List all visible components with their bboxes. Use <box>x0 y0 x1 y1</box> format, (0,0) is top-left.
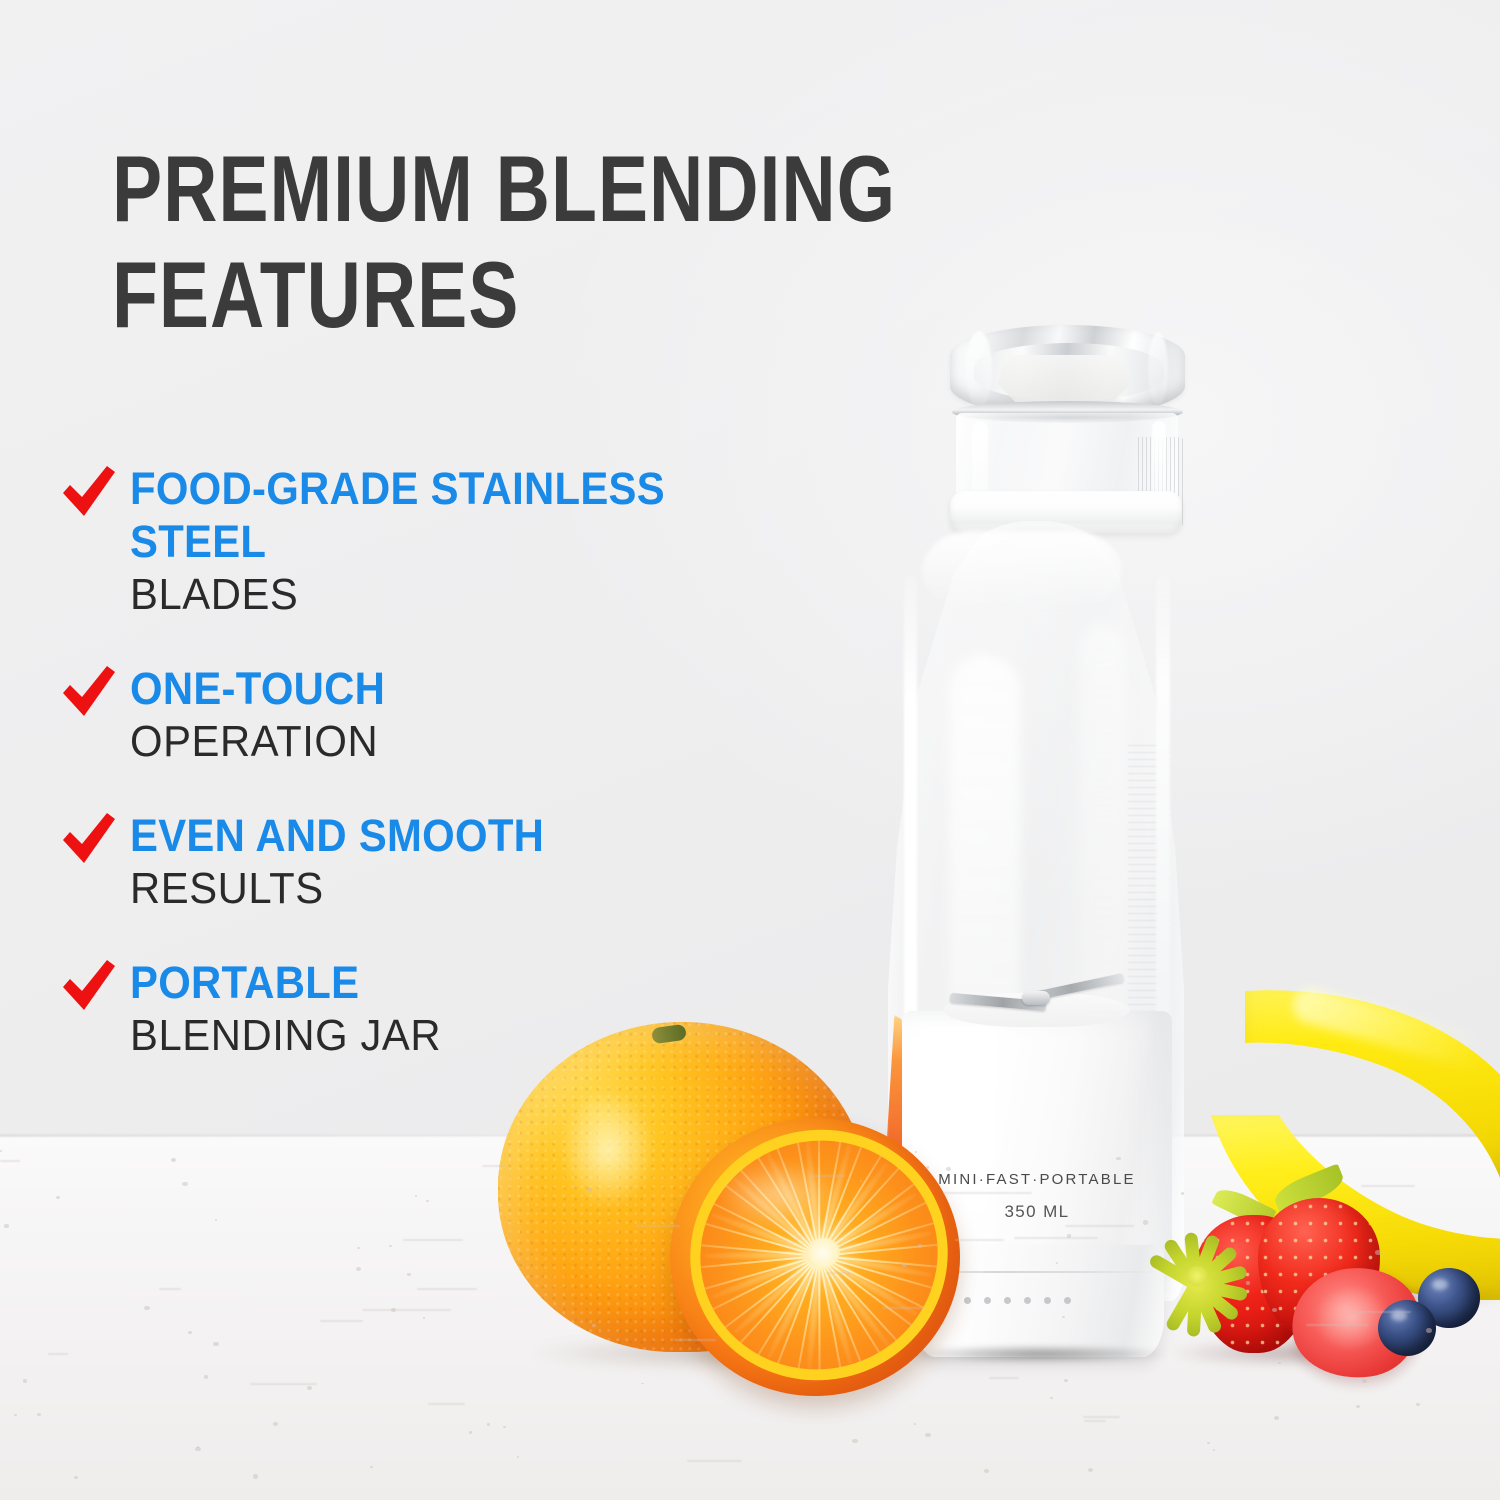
lid-highlight-right <box>1148 333 1168 405</box>
counter-speck <box>1272 1308 1277 1312</box>
counter-speck <box>370 1466 373 1468</box>
counter-streak <box>1065 1225 1133 1227</box>
counter-streak <box>1306 1324 1369 1326</box>
counter-speck <box>4 1224 8 1227</box>
counter-speck <box>984 1469 989 1473</box>
lid-highlight-left <box>966 331 992 409</box>
orange-half-shine <box>718 1160 838 1230</box>
feature-title: EVEN AND SMOOTH <box>130 809 716 862</box>
label-brand: MINI·FAST·PORTABLE <box>902 1171 1172 1188</box>
counter-speck <box>0 1150 2 1152</box>
feature-title: ONE-TOUCH <box>130 662 716 715</box>
counter-speck <box>1246 1281 1250 1284</box>
page-title: PREMIUM BLENDING FEATURES <box>112 136 1008 348</box>
counter-streak <box>482 1165 505 1167</box>
feature-title: FOOD-GRADE STAINLESS STEEL <box>130 462 716 568</box>
feature-subtitle: OPERATION <box>130 715 729 769</box>
counter-streak <box>674 1339 716 1341</box>
red-check-icon <box>60 813 118 865</box>
counter-speck <box>587 1187 592 1191</box>
feature-item-even-smooth: EVEN AND SMOOTH RESULTS <box>60 809 760 916</box>
red-check-icon <box>60 466 118 518</box>
counter-speck <box>307 1386 312 1390</box>
counter-streak <box>943 1192 1031 1194</box>
counter-streak <box>826 1272 850 1274</box>
counter-streak <box>320 1320 363 1322</box>
counter-streak <box>417 1288 477 1290</box>
lid-facet <box>998 355 1130 403</box>
feature-subtitle: RESULTS <box>130 862 729 916</box>
counter-speck <box>1278 1362 1280 1364</box>
counter-speck <box>23 1379 27 1382</box>
feature-item-one-touch: ONE-TOUCH OPERATION <box>60 662 760 769</box>
blueberry-highlight <box>1432 1279 1448 1290</box>
counter-speck <box>1050 1397 1053 1399</box>
base-vent-dots <box>944 1297 1071 1304</box>
jar-shoulder-highlight <box>922 531 1122 611</box>
counter-speck <box>517 1456 519 1458</box>
counter-streak <box>636 1225 680 1227</box>
feature-list: FOOD-GRADE STAINLESS STEEL BLADES ONE-TO… <box>60 462 760 1103</box>
counter-speck <box>415 1195 418 1197</box>
counter-streak <box>362 1309 452 1311</box>
counter-speck <box>1143 1220 1148 1224</box>
counter-speck <box>1181 1192 1184 1195</box>
product-feature-banner: PREMIUM BLENDING FEATURES FOOD-GRADE STA… <box>0 0 1500 1500</box>
counter-streak <box>1353 1311 1411 1313</box>
counter-speck <box>389 1245 392 1247</box>
counter-streak <box>955 1239 1004 1241</box>
counter-speck <box>1116 1157 1121 1161</box>
counter-streak <box>159 1288 181 1290</box>
counter-streak <box>687 1460 742 1462</box>
counter-streak <box>428 1403 465 1405</box>
counter-streak <box>882 1307 926 1309</box>
feature-subtitle: BLADES <box>130 568 729 622</box>
counter-speck <box>469 1431 472 1434</box>
jar-reflection-right <box>1080 625 1126 1005</box>
red-check-icon <box>60 666 118 718</box>
counter-speck <box>204 1375 209 1379</box>
counter-streak <box>1083 1416 1121 1418</box>
feature-item-food-grade: FOOD-GRADE STAINLESS STEEL BLADES <box>60 462 760 622</box>
counter-streak <box>1084 1420 1107 1422</box>
counter-speck <box>1375 1250 1381 1255</box>
counter-streak <box>48 1353 68 1355</box>
counter-streak <box>1361 1185 1414 1187</box>
feature-title: PORTABLE <box>130 956 716 1009</box>
counter-streak <box>0 1160 20 1162</box>
counter-speck <box>918 1244 922 1247</box>
red-check-icon <box>60 960 118 1012</box>
counter-speck <box>407 1273 410 1276</box>
counter-speck <box>253 1474 259 1479</box>
counter-speck <box>860 1180 862 1182</box>
counter-streak <box>1014 1237 1098 1239</box>
orange-highlight <box>560 1090 656 1210</box>
counter-speck <box>144 1306 149 1310</box>
counter-speck <box>182 1182 188 1187</box>
counter-streak <box>250 1383 316 1385</box>
blade-hub <box>1022 991 1050 1005</box>
counter-speck <box>215 1219 217 1221</box>
strawberry-calyx-center <box>1186 1266 1208 1286</box>
counter-speck <box>1207 1442 1210 1444</box>
counter-speck <box>423 1317 425 1319</box>
counter-speck <box>503 1426 506 1428</box>
counter-speck <box>1426 1328 1432 1333</box>
